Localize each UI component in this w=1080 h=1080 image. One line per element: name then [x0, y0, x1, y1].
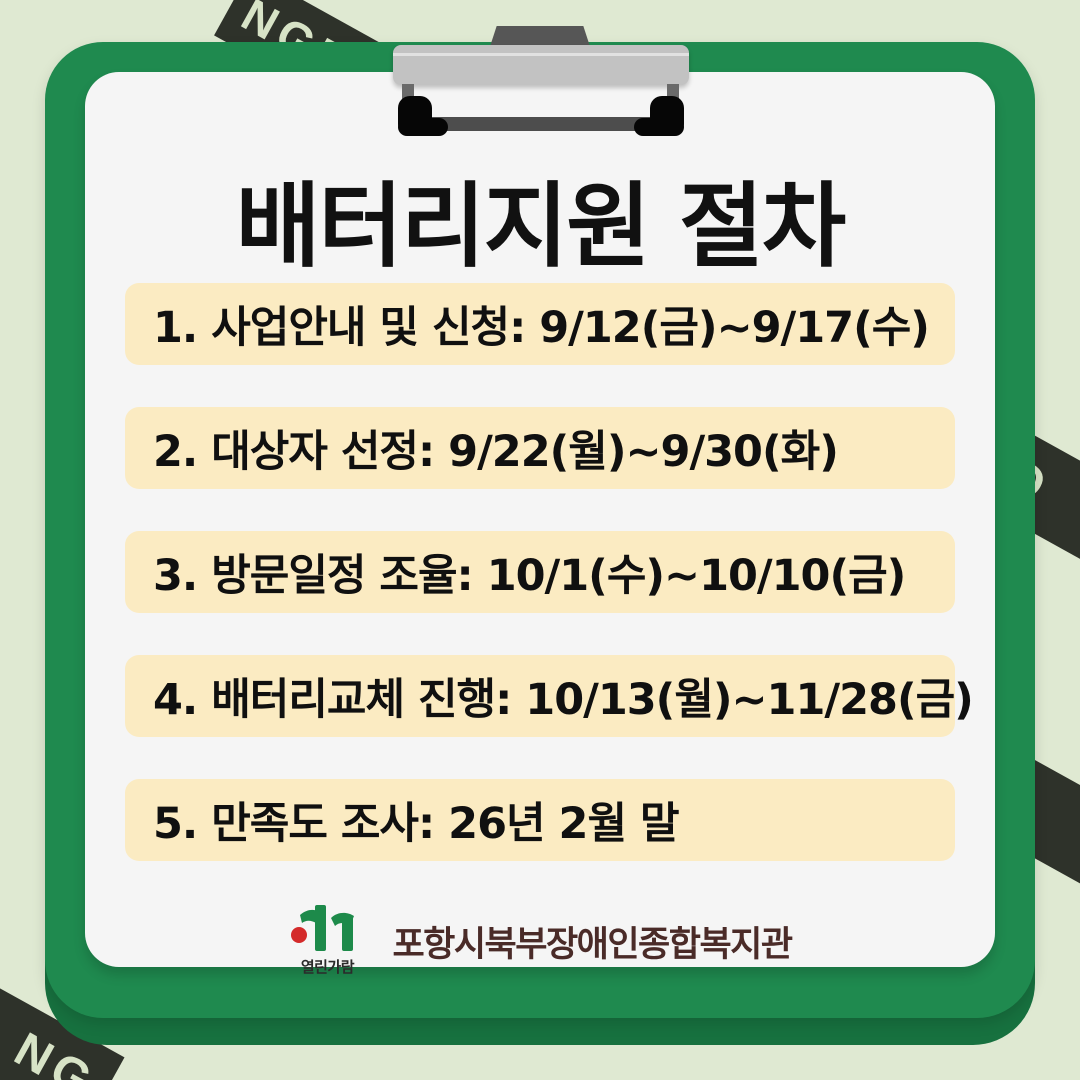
organization-name: 포항시북부장애인종합복지관	[392, 916, 791, 967]
list-item: 4. 배터리교체 진행: 10/13(월)~11/28(금)	[125, 655, 955, 737]
logo-glyph-icon	[290, 905, 364, 955]
list-item: 2. 대상자 선정: 9/22(월)~9/30(화)	[125, 407, 955, 489]
clip-crossbar	[420, 117, 663, 131]
page-title: 배터리지원 절차	[0, 152, 1080, 285]
list-item: 3. 방문일정 조율: 10/1(수)~10/10(금)	[125, 531, 955, 613]
organization-logo-icon: 열린가람	[288, 905, 366, 977]
clip-grip-right	[650, 96, 684, 136]
step-text: 2. 대상자 선정: 9/22(월)~9/30(화)	[153, 417, 838, 479]
list-item: 1. 사업안내 및 신청: 9/12(금)~9/17(수)	[125, 283, 955, 365]
poster-canvas: NGER · D R · NG 배터리지원 절차 1. 사업안내 및 신청: 9…	[0, 0, 1080, 1080]
logo-caption: 열린가람	[301, 956, 354, 977]
list-item: 5. 만족도 조사: 26년 2월 말	[125, 779, 955, 861]
footer-branding: 열린가람 포항시북부장애인종합복지관	[0, 905, 1080, 977]
step-text: 4. 배터리교체 진행: 10/13(월)~11/28(금)	[153, 665, 973, 727]
step-text: 1. 사업안내 및 신청: 9/12(금)~9/17(수)	[153, 293, 929, 355]
step-text: 5. 만족도 조사: 26년 2월 말	[153, 789, 679, 851]
clip-grip-left	[398, 96, 432, 136]
step-text: 3. 방문일정 조율: 10/1(수)~10/10(금)	[153, 541, 905, 603]
steps-list: 1. 사업안내 및 신청: 9/12(금)~9/17(수) 2. 대상자 선정:…	[125, 283, 955, 903]
clip-bar	[393, 45, 689, 85]
